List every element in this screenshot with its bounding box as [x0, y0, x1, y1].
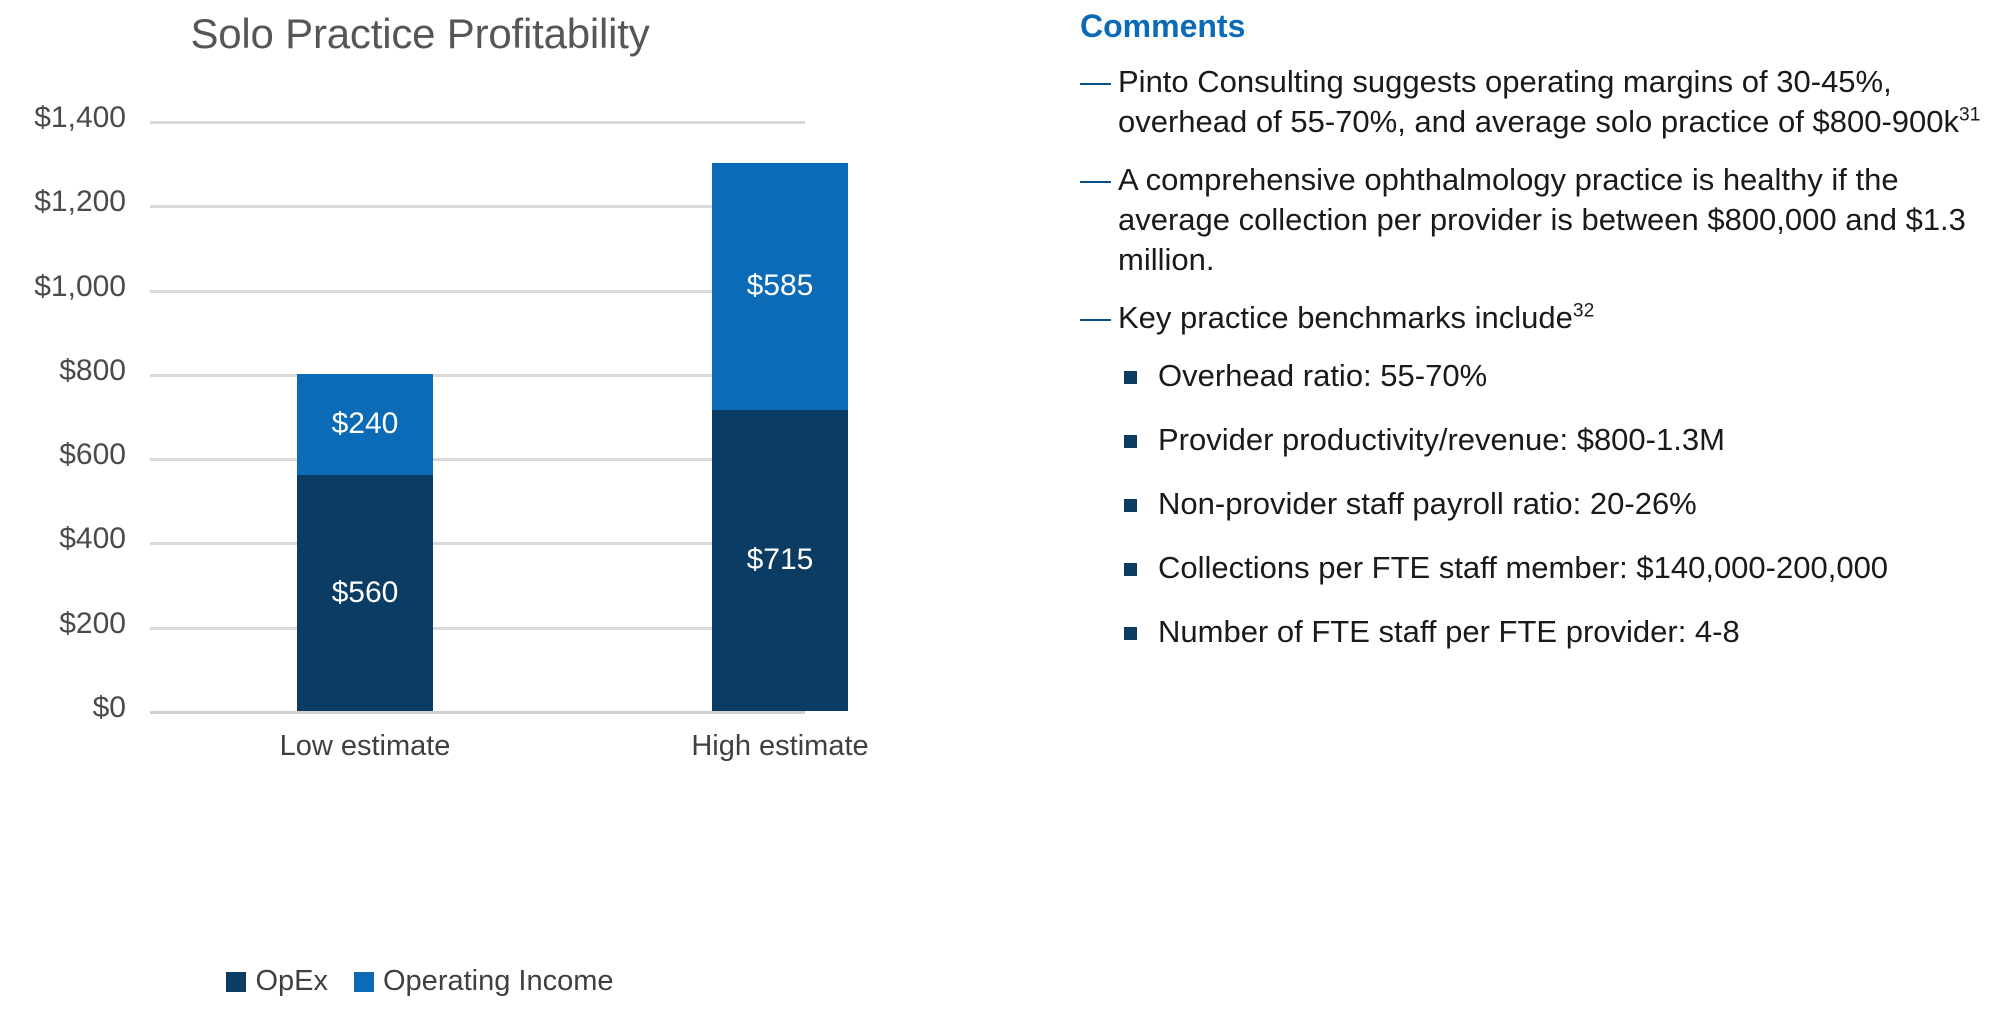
- y-axis-tick-label: $1,200: [0, 185, 126, 219]
- benchmark-sub-item-text: Number of FTE staff per FTE provider: 4-…: [1158, 614, 1740, 649]
- gridline: [150, 458, 805, 461]
- comment-bullet-text: A comprehensive ophthalmology practice i…: [1118, 162, 1966, 277]
- y-axis-tick-label: $1,000: [0, 270, 126, 304]
- square-bullet-icon: [1124, 371, 1137, 384]
- benchmark-sub-item-text: Non-provider staff payroll ratio: 20-26%: [1158, 486, 1697, 521]
- square-bullet-icon: [1124, 499, 1137, 512]
- legend-label: OpEx: [255, 965, 328, 998]
- benchmark-sub-item-text: Overhead ratio: 55-70%: [1158, 358, 1487, 393]
- comment-bullet: —Pinto Consulting suggests operating mar…: [1080, 62, 2000, 142]
- benchmark-sub-list: Overhead ratio: 55-70%Provider productiv…: [1080, 356, 2000, 652]
- comment-bullet: —A comprehensive ophthalmology practice …: [1080, 160, 2000, 280]
- gridline: [150, 627, 805, 630]
- comment-bullet: —Key practice benchmarks include32: [1080, 298, 2000, 338]
- benchmark-sub-item: Provider productivity/revenue: $800-1.3M: [1080, 420, 2000, 460]
- bar-value-label: $715: [747, 543, 814, 577]
- em-dash-bullet-icon: —: [1080, 298, 1111, 338]
- y-axis-tick-label: $1,400: [0, 101, 126, 135]
- x-axis-line: [150, 711, 805, 714]
- em-dash-bullet-icon: —: [1080, 62, 1111, 102]
- y-axis-tick-label: $800: [0, 354, 126, 388]
- plot-area: $1,400$1,200$1,000$800$600$400$200$0 $24…: [150, 121, 805, 711]
- legend-item[interactable]: OpEx: [226, 965, 328, 998]
- legend-item[interactable]: Operating Income: [354, 965, 614, 998]
- legend-label: Operating Income: [383, 965, 614, 998]
- footnote-reference: 31: [1959, 105, 1980, 126]
- bar-high-estimate[interactable]: $585 $715: [712, 163, 848, 711]
- y-axis-tick-label: $0: [0, 691, 126, 725]
- x-axis-category-label-high: High estimate: [622, 730, 938, 763]
- benchmark-sub-item: Number of FTE staff per FTE provider: 4-…: [1080, 612, 2000, 652]
- comments-heading: Comments: [1080, 8, 1245, 45]
- y-axis-tick-label: $600: [0, 438, 126, 472]
- x-axis-category-label-low: Low estimate: [207, 730, 523, 763]
- benchmark-sub-item: Non-provider staff payroll ratio: 20-26%: [1080, 484, 2000, 524]
- gridline: [150, 542, 805, 545]
- bar-value-label: $585: [747, 269, 814, 303]
- comments-panel: Comments —Pinto Consulting suggests oper…: [1080, 0, 2000, 1035]
- bar-segment-operating-income[interactable]: $240: [297, 374, 433, 475]
- benchmark-sub-item-text: Provider productivity/revenue: $800-1.3M: [1158, 422, 1725, 457]
- comment-bullet-text: Pinto Consulting suggests operating marg…: [1118, 64, 1959, 139]
- benchmark-sub-item: Overhead ratio: 55-70%: [1080, 356, 2000, 396]
- em-dash-bullet-icon: —: [1080, 160, 1111, 200]
- chart-title: Solo Practice Profitability: [0, 10, 840, 58]
- gridline: [150, 121, 805, 124]
- chart-legend: OpExOperating Income: [0, 965, 840, 998]
- benchmark-sub-item: Collections per FTE staff member: $140,0…: [1080, 548, 2000, 588]
- chart-panel: Solo Practice Profitability $1,400$1,200…: [0, 0, 1040, 1035]
- square-bullet-icon: [1124, 435, 1137, 448]
- bar-value-label: $560: [332, 576, 399, 610]
- y-axis-tick-label: $200: [0, 607, 126, 641]
- gridline: [150, 290, 805, 293]
- bar-low-estimate[interactable]: $240 $560: [297, 374, 433, 711]
- gridline: [150, 374, 805, 377]
- bar-value-label: $240: [332, 407, 399, 441]
- bar-segment-opex[interactable]: $560: [297, 475, 433, 711]
- slide-canvas: Solo Practice Profitability $1,400$1,200…: [0, 0, 2000, 1035]
- comments-body: —Pinto Consulting suggests operating mar…: [1080, 62, 2000, 676]
- bar-segment-opex[interactable]: $715: [712, 410, 848, 711]
- square-bullet-icon: [1124, 627, 1137, 640]
- bar-segment-operating-income[interactable]: $585: [712, 163, 848, 410]
- benchmark-sub-item-text: Collections per FTE staff member: $140,0…: [1158, 550, 1888, 585]
- square-bullet-icon: [1124, 563, 1137, 576]
- comment-bullet-text: Key practice benchmarks include: [1118, 300, 1573, 335]
- y-axis-tick-label: $400: [0, 522, 126, 556]
- gridline: [150, 205, 805, 208]
- footnote-reference: 32: [1573, 301, 1594, 322]
- legend-swatch-icon: [354, 972, 374, 992]
- legend-swatch-icon: [226, 972, 246, 992]
